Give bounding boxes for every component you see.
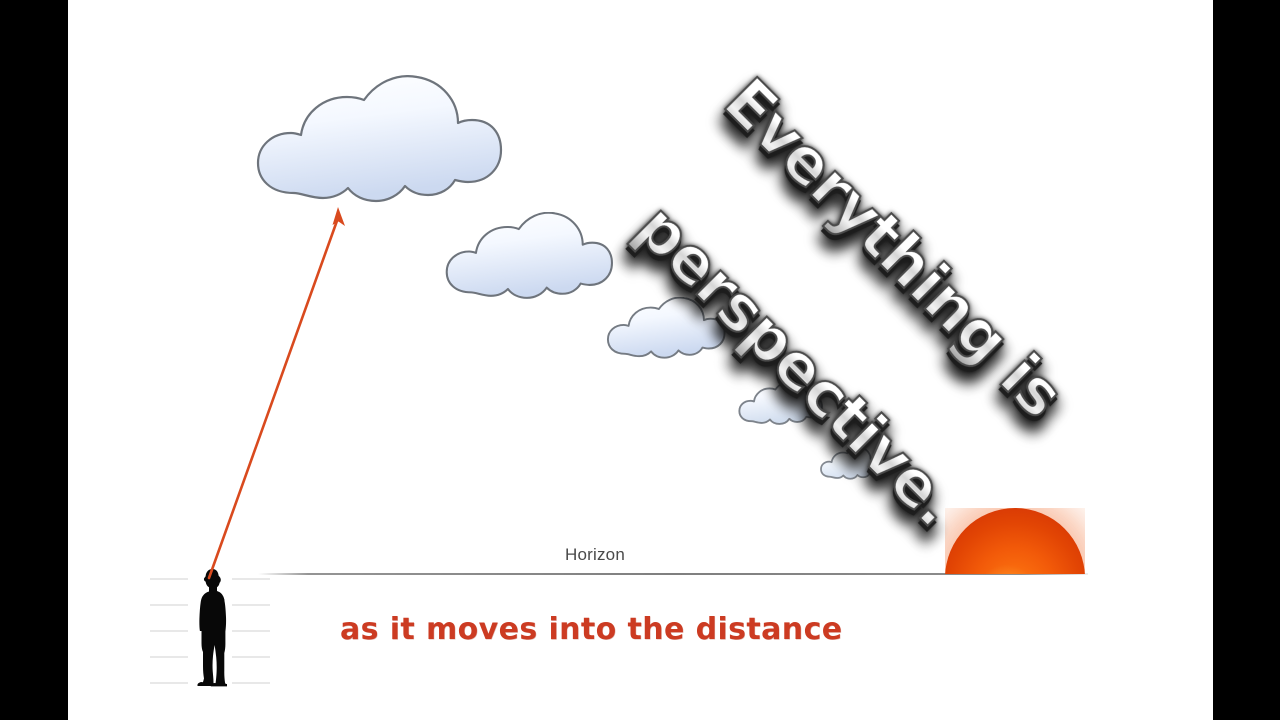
cloud-medium — [606, 297, 726, 362]
video-frame: Horizon as it moves into the distance — [0, 0, 1280, 720]
title-line-2-outline: perspective. — [622, 190, 972, 540]
sun — [945, 508, 1085, 574]
title-line-1-text: Everything is — [710, 64, 1077, 431]
height-tick — [150, 578, 188, 580]
height-tick — [150, 682, 188, 684]
height-tick — [150, 630, 188, 632]
cloud-large — [444, 212, 614, 304]
horizon-label: Horizon — [565, 545, 625, 565]
person-silhouette — [190, 565, 234, 687]
height-tick — [232, 604, 270, 606]
height-tick — [232, 578, 270, 580]
letterbox-bar-left — [0, 0, 68, 720]
height-tick — [150, 656, 188, 658]
letterbox-bar-right — [1213, 0, 1280, 720]
scene-canvas: Horizon as it moves into the distance — [68, 0, 1213, 720]
height-tick — [232, 656, 270, 658]
caption-text: as it moves into the distance — [340, 612, 843, 647]
title-block: Everything is Everything is perspective.… — [668, 40, 1188, 510]
title-line-1: Everything is Everything is — [710, 64, 1077, 431]
sun-surface-texture — [945, 508, 1085, 574]
height-tick — [232, 682, 270, 684]
height-tick — [150, 604, 188, 606]
cloud-largest — [254, 75, 504, 210]
cloud-smallest — [820, 447, 882, 481]
height-tick — [232, 630, 270, 632]
title-line-2-text: perspective. — [622, 190, 972, 540]
title-line-1-outline: Everything is — [710, 64, 1077, 431]
title-line-2: perspective. perspective. — [622, 190, 972, 540]
cloud-small — [738, 381, 823, 427]
